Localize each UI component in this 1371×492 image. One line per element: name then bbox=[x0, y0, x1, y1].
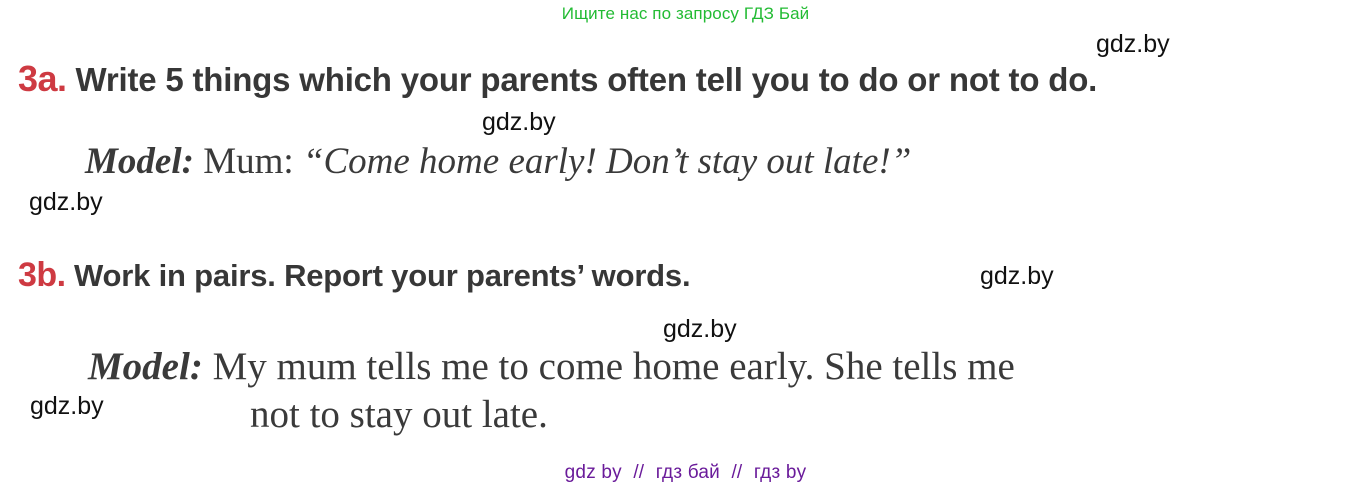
model-label-3b: Model: bbox=[88, 345, 203, 388]
model-example-3a: Model: Mum: “Come home early! Don’t stay… bbox=[85, 140, 911, 183]
task-title-3b: Work in pairs. Report your parents’ word… bbox=[74, 258, 690, 293]
watermark: gdz.by bbox=[980, 262, 1054, 291]
footer-links: gdz by // гдз бай // гдз by bbox=[0, 462, 1371, 484]
footer-separator: // bbox=[627, 462, 650, 483]
task-title-3a: Write 5 things which your parents often … bbox=[76, 61, 1098, 98]
promo-banner: Ищите нас по запросу ГДЗ Бай bbox=[0, 4, 1371, 24]
model-label-3a: Model: bbox=[85, 141, 194, 182]
worksheet-page: Ищите нас по запросу ГДЗ Бай gdz.by 3a. … bbox=[0, 0, 1371, 492]
model-quote-3a: “Come home early! Don’t stay out late!” bbox=[303, 141, 911, 182]
model-text-3b-line1: My mum tells me to come home early. She … bbox=[213, 345, 1015, 388]
footer-link-gdz-by[interactable]: gdz by bbox=[565, 462, 622, 483]
footer-link-gdz-bai[interactable]: гдз бай bbox=[656, 462, 720, 483]
watermark: gdz.by bbox=[482, 108, 556, 137]
model-speaker-3a: Mum: bbox=[203, 141, 293, 182]
task-number-3a: 3a. bbox=[18, 58, 67, 99]
model-text-3b-line2: not to stay out late. bbox=[250, 392, 548, 437]
task-number-3b: 3b. bbox=[18, 256, 66, 294]
watermark: gdz.by bbox=[1096, 30, 1170, 59]
task-heading-3b: 3b. Work in pairs. Report your parents’ … bbox=[18, 256, 690, 295]
footer-link-gdz-by-mixed[interactable]: гдз by bbox=[754, 462, 806, 483]
watermark: gdz.by bbox=[29, 188, 103, 217]
watermark: gdz.by bbox=[30, 392, 104, 421]
task-heading-3a: 3a. Write 5 things which your parents of… bbox=[18, 58, 1097, 100]
footer-separator: // bbox=[725, 462, 748, 483]
model-example-3b: Model: My mum tells me to come home earl… bbox=[88, 340, 1015, 394]
